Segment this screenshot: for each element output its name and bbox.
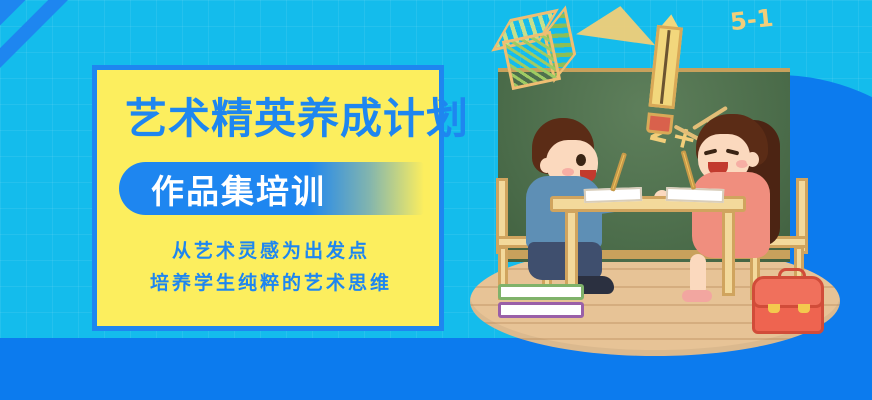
page-title: 艺术精英养成计划 <box>125 98 469 140</box>
book-green <box>498 284 584 300</box>
description-line-2: 培养学生纯粹的艺术思维 <box>121 268 421 300</box>
book-purple <box>498 302 584 318</box>
highlight-pill: 作品集培训 <box>119 162 424 215</box>
description-block: 从艺术灵感为出发点 培养学生纯粹的艺术思维 <box>121 236 421 300</box>
backpack-icon <box>752 272 824 334</box>
classroom-illustration: 2+2=4 5-1 <box>430 0 872 400</box>
chalk-number: 5-1 <box>729 4 775 36</box>
chalk-cube-icon <box>496 7 579 88</box>
book-stack <box>498 284 588 322</box>
pill-label: 作品集培训 <box>151 165 326 213</box>
desk-leg-right <box>722 210 735 296</box>
chalk-triangle-icon <box>576 1 660 46</box>
text-panel: 艺术精英养成计划 作品集培训 从艺术灵感为出发点 培养学生纯粹的艺术思维 <box>92 65 444 331</box>
description-line-1: 从艺术灵感为出发点 <box>121 236 421 268</box>
promo-banner: 艺术精英养成计划 作品集培训 从艺术灵感为出发点 培养学生纯粹的艺术思维 2+2… <box>0 0 872 400</box>
paper-sheet-right <box>666 187 724 203</box>
